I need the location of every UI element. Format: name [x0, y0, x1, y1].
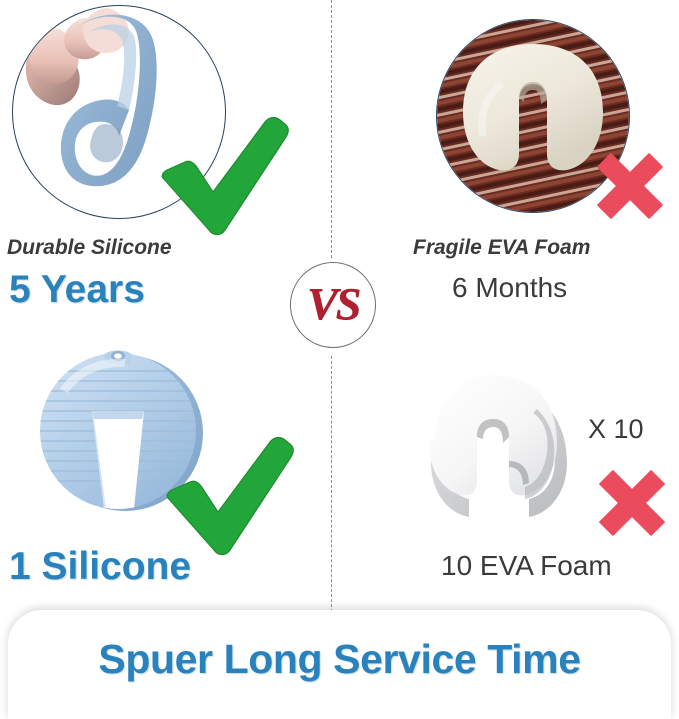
vs-badge-label: VS — [307, 281, 359, 327]
red-cross-icon-top — [592, 148, 668, 224]
green-check-icon-top — [155, 112, 290, 237]
headline-banner-text: Spuer Long Service Time — [98, 636, 580, 683]
white-eva-foam-disc-icon — [405, 365, 580, 525]
comparison-infographic: VS Durable Silicone 5 Years Fragile EVA … — [0, 0, 679, 719]
eva-foam-quantity-multiplier: X 10 — [588, 414, 644, 445]
red-cross-icon-bottom — [594, 465, 670, 541]
eva-foam-quantity-caption: 10 EVA Foam — [441, 550, 612, 582]
green-check-icon-bottom — [160, 432, 295, 557]
fragile-eva-foam-caption: Fragile EVA Foam — [413, 236, 590, 260]
durable-silicone-caption: Durable Silicone — [7, 236, 172, 260]
durable-silicone-lifespan: 5 Years — [9, 268, 145, 312]
fragile-eva-foam-lifespan: 6 Months — [452, 272, 567, 304]
column-divider-bottom — [331, 356, 332, 612]
column-divider-top — [331, 0, 332, 258]
headline-banner: Spuer Long Service Time — [8, 610, 671, 719]
vs-badge: VS — [290, 262, 376, 348]
